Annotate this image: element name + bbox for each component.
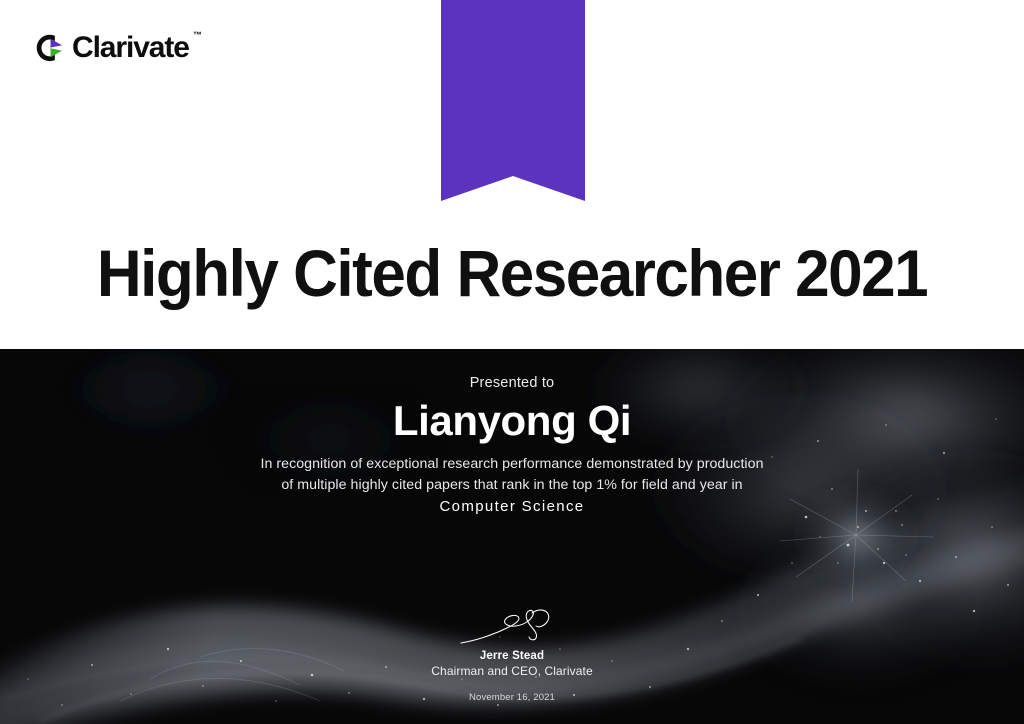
clarivate-logo-icon (36, 34, 63, 62)
handwritten-signature-icon (457, 605, 567, 647)
recognition-statement: In recognition of exceptional research p… (0, 454, 1024, 496)
field-of-research: Computer Science (0, 498, 1024, 515)
award-content: Presented to Lianyong Qi In recognition … (0, 349, 1024, 724)
certificate-header-section: Clarivate ™ Highly Cited Researcher 2021 (0, 0, 1024, 349)
recognition-line-1: In recognition of exceptional research p… (0, 454, 1024, 475)
trademark-symbol: ™ (193, 31, 202, 40)
issue-date: November 16, 2021 (0, 692, 1024, 703)
recognition-line-2: of multiple highly cited papers that ran… (0, 475, 1024, 496)
clarivate-logo: Clarivate ™ (36, 33, 189, 63)
page-title: Highly Cited Researcher 2021 (31, 240, 994, 306)
signer-name: Jerre Stead (0, 650, 1024, 662)
clarivate-wordmark: Clarivate ™ (72, 33, 189, 63)
presented-to-label: Presented to (0, 375, 1024, 391)
ribbon-banner-icon (441, 0, 585, 201)
signature-block: Jerre Stead Chairman and CEO, Clarivate … (0, 605, 1024, 703)
certificate-page: Clarivate ™ Highly Cited Researcher 2021 (0, 0, 1024, 724)
certificate-body-section: Presented to Lianyong Qi In recognition … (0, 349, 1024, 724)
clarivate-wordmark-text: Clarivate (72, 31, 189, 64)
signer-title: Chairman and CEO, Clarivate (0, 664, 1024, 678)
recipient-name: Lianyong Qi (0, 397, 1024, 445)
